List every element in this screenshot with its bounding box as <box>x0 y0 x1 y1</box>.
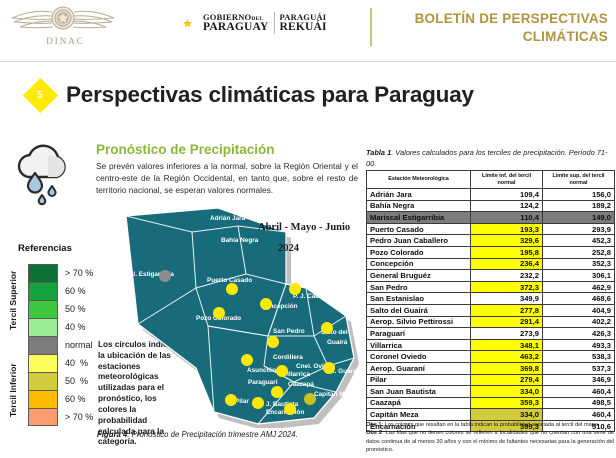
map-label: Guairá <box>327 339 348 346</box>
station-name-cell: San Pedro <box>367 281 471 293</box>
station-name-cell: Puerto Casado <box>367 223 471 235</box>
table-body: Adrián Jara109,4156,0Bahía Negra124,2189… <box>367 189 615 432</box>
map-period-line1: Abril - Mayo - Junio <box>258 222 350 233</box>
station-name-cell: San Estanislao <box>367 293 471 305</box>
gobierno-wordmark: GOBIERNODEL PARAGUAY PARAGUÁI REKUÁI <box>203 12 327 34</box>
gobierno-es: GOBIERNODEL PARAGUAY <box>203 13 269 34</box>
map-station-dot[interactable] <box>241 354 253 366</box>
legend-swatch <box>28 318 58 336</box>
table-observations: Obs 1: Los colores que resaltan en la ta… <box>366 421 614 455</box>
figure-caption-bold: Figura 4 <box>97 430 127 439</box>
table-row: Bahía Negra124,2189,2 <box>367 200 615 212</box>
legend-label: > 70 % <box>65 412 93 422</box>
terciles-table: Estación MeteorológicaLímite inf. del te… <box>366 170 615 432</box>
lower-tercile-cell: 193,3 <box>471 223 543 235</box>
station-name-cell: Pedro Juan Caballero <box>367 235 471 247</box>
station-name-cell: Coronel Oviedo <box>367 351 471 363</box>
map-label: Bahía Negra <box>221 237 259 244</box>
dinac-wings-icon <box>8 4 118 38</box>
legend-label: 40 % <box>65 358 88 368</box>
station-name-cell: Salto del Guairá <box>367 304 471 316</box>
table-col-header: Límite inf. del tercil normal <box>471 171 543 189</box>
map-station-dot[interactable] <box>284 403 296 415</box>
legend-item: 60 % <box>28 282 111 300</box>
table-row: Adrián Jara109,4156,0 <box>367 189 615 201</box>
legend-side-upper: Tercil Superior <box>8 264 18 336</box>
map-station-dot[interactable] <box>159 270 171 282</box>
table-row: Puerto Casado193,3293,9 <box>367 223 615 235</box>
legend-item: 50 % <box>28 300 111 318</box>
lower-tercile-cell: 349,9 <box>471 293 543 305</box>
upper-tercile-cell: 537,3 <box>543 362 615 374</box>
map-label: Paraguarí <box>248 379 278 386</box>
obs2-text: : Las filas que no tienen colores se ref… <box>366 430 614 453</box>
lower-tercile-cell: 279,4 <box>471 374 543 386</box>
upper-tercile-cell: 452,3 <box>543 235 615 247</box>
legend-item: 40 % <box>28 318 111 336</box>
table-row: Villarrica348,1493,3 <box>367 339 615 351</box>
legend-label: 60 % <box>65 394 86 404</box>
station-name-cell: Adrián Jara <box>367 189 471 201</box>
lower-tercile-cell: 329,6 <box>471 235 543 247</box>
table-row: Concepción236,4352,3 <box>367 258 615 270</box>
table-row: San Juan Bautista334,0460,4 <box>367 386 615 398</box>
obs1-text: : Los colores que resaltan en la tabla i… <box>382 422 600 428</box>
obs2-label: Obs 2 <box>366 430 382 436</box>
lower-tercile-cell: 236,4 <box>471 258 543 270</box>
lower-tercile-cell: 291,4 <box>471 316 543 328</box>
legend-swatch <box>28 336 58 354</box>
map-station-dot[interactable] <box>289 283 301 295</box>
wordmark-divider <box>274 12 275 34</box>
map-station-dot[interactable] <box>323 362 335 374</box>
map-station-dot[interactable] <box>260 298 272 310</box>
upper-tercile-cell: 460,4 <box>543 386 615 398</box>
map-station-dot[interactable] <box>304 393 316 405</box>
dinac-label: DINAC <box>8 36 123 46</box>
map-station-dot[interactable] <box>267 336 279 348</box>
station-name-cell: Paraguarí <box>367 328 471 340</box>
upper-tercile-cell: 189,2 <box>543 200 615 212</box>
map-station-dot[interactable] <box>225 394 237 406</box>
map-label: Pilar <box>235 398 249 405</box>
rain-cloud-icon <box>8 133 88 213</box>
map-station-dot[interactable] <box>226 283 238 295</box>
legend-title: Referencias <box>18 243 72 254</box>
map-station-dot[interactable] <box>252 397 264 409</box>
figure-caption-text: . Pronóstico de Precipitación trimestre … <box>127 430 297 439</box>
station-name-cell: Villarrica <box>367 339 471 351</box>
lower-tercile-cell: 195,8 <box>471 246 543 258</box>
observation-1: Obs 1: Los colores que resaltan en la ta… <box>366 421 614 429</box>
station-name-cell: Capitán Meza <box>367 409 471 421</box>
legend-side-lower: Tercil Inferior <box>8 354 18 426</box>
legend-label: 60 % <box>65 286 86 296</box>
gobierno-paraguay-logo: GOBIERNODEL PARAGUAY PARAGUÁI REKUÁI <box>178 12 327 34</box>
lower-tercile-cell: 109,4 <box>471 189 543 201</box>
map-station-dot[interactable] <box>276 365 288 377</box>
paraguay-seal-icon <box>178 14 197 33</box>
table-row: General Bruguéz232,2306,1 <box>367 270 615 282</box>
station-name-cell: Mariscal Estigarribia <box>367 212 471 224</box>
station-name-cell: Bahía Negra <box>367 200 471 212</box>
dinac-logo: DINAC <box>8 4 123 56</box>
upper-tercile-cell: 426,3 <box>543 328 615 340</box>
forecast-title: Pronóstico de Precipitación <box>96 142 275 157</box>
page-title: Perspectivas climáticas para Paraguay <box>66 82 474 108</box>
table-caption-bold: Tabla 1 <box>366 148 391 157</box>
station-name-cell: Pilar <box>367 374 471 386</box>
map-label: Puerto Casado <box>207 277 252 284</box>
upper-tercile-cell: 493,3 <box>543 339 615 351</box>
bulletin-title: BOLETÍN DE PERSPECTIVAS CLIMÁTICAS <box>390 10 608 46</box>
upper-tercile-cell: 404,9 <box>543 304 615 316</box>
map-label: P. J. Caballero <box>293 293 336 300</box>
upper-tercile-cell: 293,9 <box>543 223 615 235</box>
obs1-label: Obs 1 <box>366 422 382 428</box>
forecast-body: Se prevén valores inferiores a la normal… <box>96 160 358 196</box>
upper-tercile-cell: 149,0 <box>543 212 615 224</box>
map-station-dot[interactable] <box>271 386 283 398</box>
observation-2: Obs 2: Las filas que no tienen colores s… <box>366 429 614 454</box>
legend: Tercil Superior Tercil Inferior > 70 %60… <box>6 264 111 426</box>
upper-tercile-cell: 346,9 <box>543 374 615 386</box>
table-header-row: Estación MeteorológicaLímite inf. del te… <box>367 171 615 189</box>
legend-label: 50 % <box>65 304 86 314</box>
lower-tercile-cell: 463,2 <box>471 351 543 363</box>
station-name-cell: San Juan Bautista <box>367 386 471 398</box>
legend-swatch <box>28 390 58 408</box>
lower-tercile-cell: 110,4 <box>471 212 543 224</box>
map-label: Cordillera <box>273 354 303 361</box>
table-row: Aerop. Guaraní369,8537,3 <box>367 362 615 374</box>
table-col-header: Límite sup. del tercil normal <box>543 171 615 189</box>
header-divider <box>370 8 372 46</box>
map-station-dot[interactable] <box>321 322 333 334</box>
table-row: Pozo Colorado195,8252,8 <box>367 246 615 258</box>
upper-tercile-cell: 306,1 <box>543 270 615 282</box>
legend-swatch <box>28 354 58 372</box>
map-period-line2: 2024 <box>278 243 299 254</box>
table-caption: Tabla 1. Valores calculados para los ter… <box>366 147 614 169</box>
table-row: Salto del Guairá277,8404,9 <box>367 304 615 316</box>
gov-line2: PARAGUAY <box>203 22 269 34</box>
table-row: Capitán Meza334,0460,4 <box>367 409 615 421</box>
map-label: San Pedro <box>273 328 305 335</box>
upper-tercile-cell: 156,0 <box>543 189 615 201</box>
map-station-dot[interactable] <box>213 307 225 319</box>
upper-tercile-cell: 252,8 <box>543 246 615 258</box>
legend-swatch <box>28 282 58 300</box>
map-label: Adrián Jara <box>210 215 246 222</box>
upper-tercile-cell: 402,2 <box>543 316 615 328</box>
station-name-cell: Pozo Colorado <box>367 246 471 258</box>
legend-swatch <box>28 264 58 282</box>
upper-tercile-cell: 352,3 <box>543 258 615 270</box>
station-name-cell: Concepción <box>367 258 471 270</box>
lower-tercile-cell: 273,9 <box>471 328 543 340</box>
lower-tercile-cell: 334,0 <box>471 386 543 398</box>
section-badge: 5 <box>22 77 58 113</box>
page-header: DINAC GOBIERNODEL PARAGUAY PARAGUÁI REKU… <box>0 0 616 62</box>
lower-tercile-cell: 372,3 <box>471 281 543 293</box>
legend-item: > 70 % <box>28 264 111 282</box>
lower-tercile-cell: 359,3 <box>471 397 543 409</box>
gobierno-gn: PARAGUÁI REKUÁI <box>280 13 327 33</box>
lower-tercile-cell: 348,1 <box>471 339 543 351</box>
gov-gn-line2: REKUÁI <box>280 22 327 34</box>
legend-label: 40 % <box>65 322 86 332</box>
station-name-cell: General Bruguéz <box>367 270 471 282</box>
legend-label: normal <box>65 340 93 350</box>
lower-tercile-cell: 232,2 <box>471 270 543 282</box>
table-col-header: Estación Meteorológica <box>367 171 471 189</box>
map-label: Capitán Meza <box>314 391 355 398</box>
figure-caption: Figura 4. Pronóstico de Precipitación tr… <box>97 430 362 439</box>
legend-label: > 70 % <box>65 268 93 278</box>
lower-tercile-cell: 369,8 <box>471 362 543 374</box>
section-title-row: 5 Perspectivas climáticas para Paraguay <box>0 74 616 116</box>
table-row: Paraguarí273,9426,3 <box>367 328 615 340</box>
upper-tercile-cell: 538,3 <box>543 351 615 363</box>
lower-tercile-cell: 277,8 <box>471 304 543 316</box>
lower-tercile-cell: 334,0 <box>471 409 543 421</box>
table-row: Coronel Oviedo463,2538,3 <box>367 351 615 363</box>
map-label: Asunción <box>247 367 276 374</box>
map-label: Caazapá <box>288 381 314 388</box>
legend-swatch <box>28 372 58 390</box>
table-row: Pilar279,4346,9 <box>367 374 615 386</box>
legend-swatch <box>28 300 58 318</box>
gov-line1: GOBIERNO <box>203 12 251 22</box>
table-row: San Pedro372,3462,9 <box>367 281 615 293</box>
section-badge-number: 5 <box>22 77 58 113</box>
station-name-cell: Aerop. Silvio Pettirossi <box>367 316 471 328</box>
table-row: Caazapá359,3498,5 <box>367 397 615 409</box>
legend-swatch <box>28 408 58 426</box>
table-caption-text: . Valores calculados para los terciles d… <box>366 148 607 168</box>
upper-tercile-cell: 498,5 <box>543 397 615 409</box>
lower-tercile-cell: 124,2 <box>471 200 543 212</box>
legend-label: 50 % <box>65 376 88 386</box>
upper-tercile-cell: 462,9 <box>543 281 615 293</box>
upper-tercile-cell: 460,4 <box>543 409 615 421</box>
upper-tercile-cell: 468,6 <box>543 293 615 305</box>
station-name-cell: Aerop. Guaraní <box>367 362 471 374</box>
table-row: Mariscal Estigarribia110,4149,0 <box>367 212 615 224</box>
table-row: San Estanislao349,9468,6 <box>367 293 615 305</box>
table-row: Aerop. Silvio Pettirossi291,4402,2 <box>367 316 615 328</box>
table-row: Pedro Juan Caballero329,6452,3 <box>367 235 615 247</box>
station-name-cell: Caazapá <box>367 397 471 409</box>
